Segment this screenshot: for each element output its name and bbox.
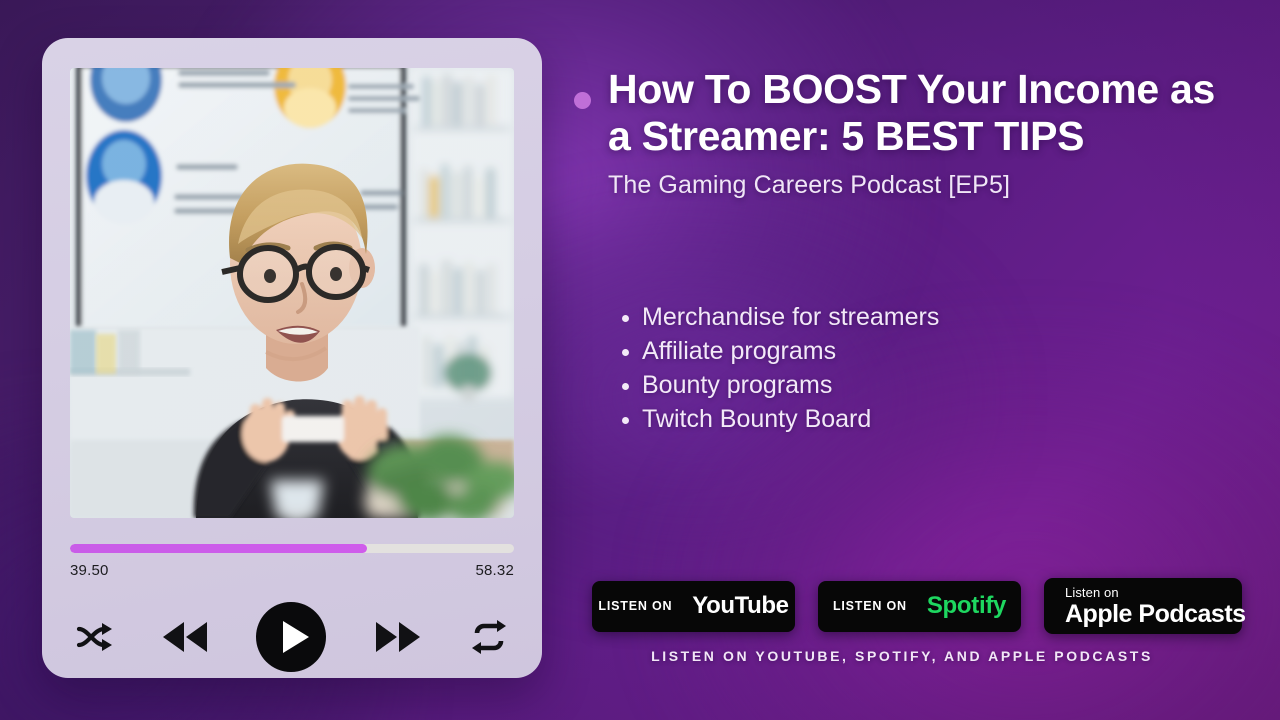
list-item: Merchandise for streamers — [612, 300, 939, 334]
playback-progress[interactable]: 39.50 58.32 — [70, 544, 514, 579]
repeat-button[interactable] — [468, 617, 510, 657]
spotify-badge-prefix: LISTEN ON — [833, 599, 907, 613]
list-item: Twitch Bounty Board — [612, 402, 939, 436]
platform-badges: LISTEN ON YouTube LISTEN ON Spotify — [592, 578, 1242, 634]
apple-badge-prefix: Listen on — [1065, 586, 1246, 599]
time-total: 58.32 — [475, 562, 514, 579]
footer-note: LISTEN ON YOUTUBE, SPOTIFY, AND APPLE PO… — [572, 648, 1232, 664]
rewind-icon — [161, 617, 209, 657]
apple-badge-brand: Apple Podcasts — [1065, 602, 1246, 627]
time-elapsed: 39.50 — [70, 562, 109, 579]
listen-on-spotify-badge[interactable]: LISTEN ON Spotify — [818, 581, 1021, 632]
progress-fill — [70, 544, 367, 553]
content-column: How To BOOST Your Income as a Streamer: … — [572, 0, 1280, 720]
rewind-button[interactable] — [161, 617, 209, 657]
listen-on-youtube-badge[interactable]: LISTEN ON YouTube — [592, 581, 795, 632]
podcast-subtitle: The Gaming Careers Podcast [EP5] — [608, 171, 1232, 200]
listen-on-apple-podcasts-badge[interactable]: Listen on Apple Podcasts — [1044, 578, 1242, 634]
cover-art-image — [70, 68, 514, 518]
fast-forward-icon — [374, 617, 422, 657]
repeat-icon — [468, 617, 510, 657]
podcast-player-card: 39.50 58.32 — [42, 38, 542, 678]
list-item: Affiliate programs — [612, 334, 939, 368]
topics-list: Merchandise for streamers Affiliate prog… — [612, 300, 939, 436]
play-button[interactable] — [255, 601, 327, 673]
shuffle-button[interactable] — [74, 617, 114, 657]
spotify-badge-brand: Spotify — [927, 592, 1006, 620]
list-item: Bounty programs — [612, 368, 939, 402]
bullet-dot-icon — [574, 92, 591, 109]
youtube-badge-prefix: LISTEN ON — [598, 599, 672, 613]
youtube-badge-brand: YouTube — [692, 592, 788, 620]
title-block: How To BOOST Your Income as a Streamer: … — [572, 66, 1232, 200]
fast-forward-button[interactable] — [374, 617, 422, 657]
apple-badge-text: Listen on Apple Podcasts — [1065, 586, 1246, 627]
time-row: 39.50 58.32 — [70, 562, 514, 579]
progress-track[interactable] — [70, 544, 514, 553]
play-icon — [255, 601, 327, 673]
player-controls — [70, 601, 514, 673]
page-title: How To BOOST Your Income as a Streamer: … — [608, 66, 1232, 160]
episode-cover-art — [70, 68, 514, 518]
shuffle-icon — [74, 617, 114, 657]
